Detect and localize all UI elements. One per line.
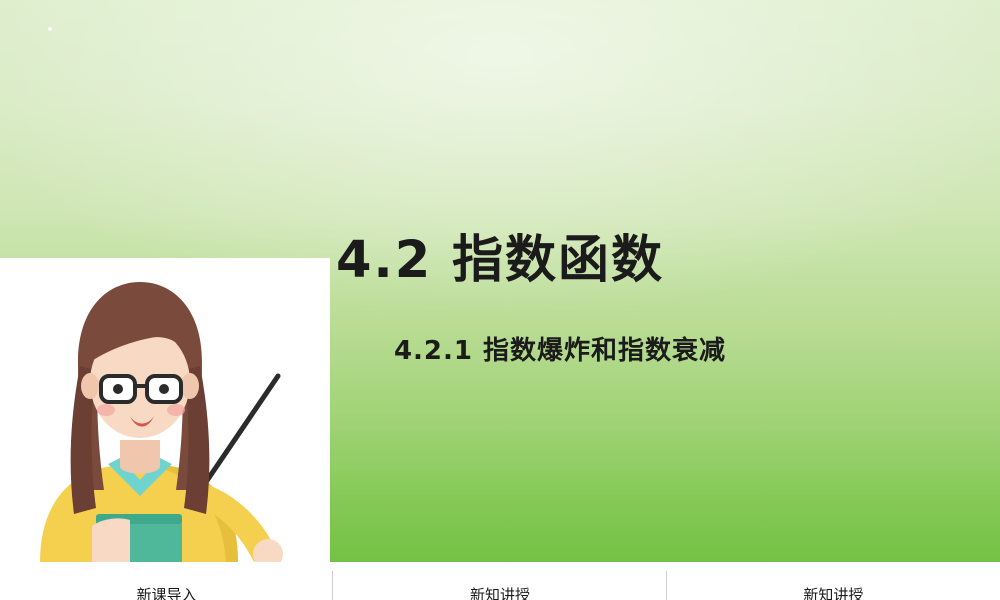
sparkle-icon — [48, 27, 52, 31]
section-tab-label: 新知讲授 — [470, 584, 530, 600]
section-tab-1[interactable]: 新知讲授 — [333, 562, 666, 600]
presentation-slide: 4.2 指数函数 4.2.1 指数爆炸和指数衰减 — [0, 0, 1000, 600]
section-tab-label: 新课导入 — [137, 584, 197, 600]
section-tab-label: 新知讲授 — [803, 584, 863, 600]
section-tab-bar: 新课导入 新知讲授 新知讲授 — [0, 562, 1000, 600]
section-tab-0[interactable]: 新课导入 — [0, 562, 333, 600]
section-tab-2[interactable]: 新知讲授 — [667, 562, 1000, 600]
teacher-illustration — [0, 258, 330, 562]
